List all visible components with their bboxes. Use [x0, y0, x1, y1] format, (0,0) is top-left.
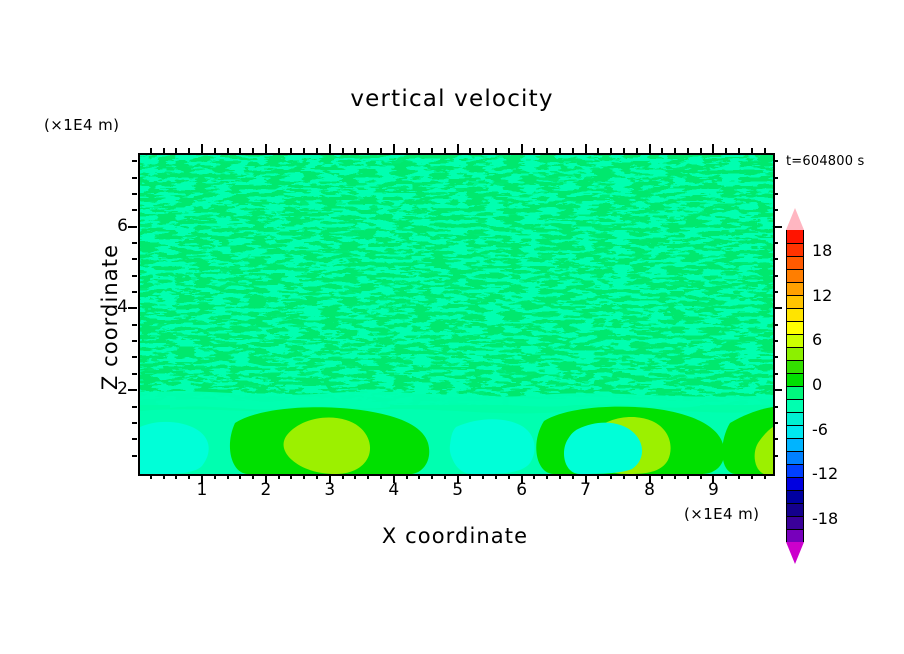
- y-tick-label: 6: [104, 216, 128, 236]
- x-major-tick-top: [265, 144, 267, 153]
- x-tick-label: 4: [379, 480, 409, 500]
- colorbar: [786, 230, 804, 542]
- y-minor-tick-right: [773, 275, 778, 277]
- x-major-tick-top: [393, 144, 395, 153]
- y-major-tick-right: [773, 226, 782, 228]
- x-minor-tick: [661, 474, 663, 479]
- y-minor-tick-right: [773, 177, 778, 179]
- y-minor-tick: [132, 258, 137, 260]
- x-minor-tick-top: [636, 148, 638, 153]
- figure-canvas: vertical velocity (×1E4 m) (×1E4 m) X co…: [0, 0, 904, 654]
- timestamp-annotation: t=604800 s: [786, 154, 865, 169]
- x-minor-tick: [482, 474, 484, 479]
- y-minor-tick-right: [773, 324, 778, 326]
- colorbar-band: [786, 321, 804, 334]
- colorbar-band: [786, 360, 804, 373]
- y-minor-tick: [132, 406, 137, 408]
- x-minor-tick-top: [227, 148, 229, 153]
- colorbar-band: [786, 490, 804, 503]
- x-tick-label: 6: [507, 480, 537, 500]
- x-minor-tick-top: [290, 148, 292, 153]
- y-minor-tick-right: [773, 193, 778, 195]
- x-tick-label: 1: [187, 480, 217, 500]
- y-minor-tick: [132, 373, 137, 375]
- colorbar-band: [786, 308, 804, 321]
- x-minor-tick: [674, 474, 676, 479]
- x-minor-tick-top: [572, 148, 574, 153]
- x-minor-tick: [342, 474, 344, 479]
- y-major-tick: [128, 307, 137, 309]
- x-major-tick-top: [585, 144, 587, 153]
- x-tick-label: 9: [698, 480, 728, 500]
- x-minor-tick: [418, 474, 420, 479]
- x-minor-tick-top: [252, 148, 254, 153]
- x-minor-tick: [406, 474, 408, 479]
- x-minor-tick-top: [406, 148, 408, 153]
- y-axis-units-label: (×1E4 m): [44, 116, 119, 134]
- y-minor-tick: [132, 324, 137, 326]
- colorbar-band: [786, 399, 804, 412]
- x-minor-tick-top: [661, 148, 663, 153]
- contour-field-svg: [140, 155, 773, 474]
- colorbar-band: [786, 477, 804, 490]
- y-minor-tick: [132, 242, 137, 244]
- x-minor-tick: [546, 474, 548, 479]
- x-minor-tick: [316, 474, 318, 479]
- x-minor-tick: [636, 474, 638, 479]
- colorbar-band: [786, 282, 804, 295]
- x-minor-tick-top: [597, 148, 599, 153]
- x-minor-tick-top: [367, 148, 369, 153]
- x-minor-tick-top: [354, 148, 356, 153]
- x-tick-label: 7: [571, 480, 601, 500]
- y-minor-tick: [132, 209, 137, 211]
- x-minor-tick: [367, 474, 369, 479]
- x-axis-title: X coordinate: [260, 524, 650, 548]
- x-minor-tick: [227, 474, 229, 479]
- x-minor-tick-top: [674, 148, 676, 153]
- x-minor-tick-top: [623, 148, 625, 153]
- y-minor-tick-right: [773, 340, 778, 342]
- x-minor-tick: [444, 474, 446, 479]
- x-minor-tick-top: [700, 148, 702, 153]
- x-minor-tick: [163, 474, 165, 479]
- x-minor-tick: [431, 474, 433, 479]
- x-minor-tick-top: [725, 148, 727, 153]
- colorbar-band: [786, 516, 804, 529]
- colorbar-band: [786, 243, 804, 256]
- y-minor-tick: [132, 356, 137, 358]
- x-minor-tick-top: [546, 148, 548, 153]
- colorbar-tick-label: -12: [812, 464, 838, 483]
- x-minor-tick: [239, 474, 241, 479]
- x-minor-tick: [278, 474, 280, 479]
- x-minor-tick: [751, 474, 753, 479]
- x-axis-units-label: (×1E4 m): [684, 505, 759, 523]
- x-minor-tick-top: [175, 148, 177, 153]
- colorbar-band: [786, 529, 804, 542]
- y-major-tick-right: [773, 389, 782, 391]
- colorbar-band: [786, 451, 804, 464]
- x-minor-tick-top: [418, 148, 420, 153]
- y-major-tick: [128, 226, 137, 228]
- x-minor-tick: [610, 474, 612, 479]
- contour-field: [140, 155, 773, 474]
- x-minor-tick-top: [751, 148, 753, 153]
- y-minor-tick: [132, 438, 137, 440]
- x-minor-tick-top: [764, 148, 766, 153]
- y-minor-tick-right: [773, 356, 778, 358]
- x-major-tick-top: [201, 144, 203, 153]
- x-minor-tick-top: [610, 148, 612, 153]
- y-minor-tick: [132, 160, 137, 162]
- x-minor-tick-top: [508, 148, 510, 153]
- x-minor-tick-top: [495, 148, 497, 153]
- colorbar-band: [786, 230, 804, 243]
- y-tick-label: 2: [104, 379, 128, 399]
- colorbar-tick-label: 0: [812, 375, 822, 394]
- colorbar-band: [786, 412, 804, 425]
- x-minor-tick-top: [444, 148, 446, 153]
- y-minor-tick-right: [773, 258, 778, 260]
- colorbar-tick-label: 6: [812, 330, 822, 349]
- x-minor-tick-top: [738, 148, 740, 153]
- plot-frame: [138, 153, 775, 476]
- x-tick-label: 5: [443, 480, 473, 500]
- x-minor-tick: [214, 474, 216, 479]
- x-tick-label: 2: [251, 480, 281, 500]
- y-minor-tick-right: [773, 422, 778, 424]
- x-minor-tick: [469, 474, 471, 479]
- x-minor-tick: [175, 474, 177, 479]
- colorbar-under-arrow: [786, 542, 804, 564]
- colorbar-band: [786, 386, 804, 399]
- y-minor-tick: [132, 275, 137, 277]
- y-minor-tick: [132, 193, 137, 195]
- colorbar-band: [786, 425, 804, 438]
- x-minor-tick-top: [150, 148, 152, 153]
- colorbar-band: [786, 256, 804, 269]
- x-major-tick-top: [521, 144, 523, 153]
- y-tick-label: 4: [104, 297, 128, 317]
- colorbar-band: [786, 295, 804, 308]
- x-minor-tick: [150, 474, 152, 479]
- x-minor-tick: [725, 474, 727, 479]
- y-minor-tick-right: [773, 373, 778, 375]
- x-minor-tick: [687, 474, 689, 479]
- x-minor-tick-top: [163, 148, 165, 153]
- colorbar-over-arrow: [786, 208, 804, 230]
- x-minor-tick: [252, 474, 254, 479]
- x-minor-tick-top: [469, 148, 471, 153]
- x-minor-tick: [764, 474, 766, 479]
- x-minor-tick: [533, 474, 535, 479]
- y-minor-tick: [132, 455, 137, 457]
- x-minor-tick-top: [380, 148, 382, 153]
- colorbar-tick-label: -6: [812, 420, 828, 439]
- colorbar-tick-label: -18: [812, 509, 838, 528]
- x-minor-tick: [290, 474, 292, 479]
- y-minor-tick: [132, 422, 137, 424]
- x-minor-tick: [508, 474, 510, 479]
- y-minor-tick: [132, 177, 137, 179]
- x-minor-tick: [700, 474, 702, 479]
- x-tick-label: 8: [635, 480, 665, 500]
- y-minor-tick-right: [773, 406, 778, 408]
- x-minor-tick: [572, 474, 574, 479]
- page-title: vertical velocity: [0, 86, 904, 112]
- x-minor-tick-top: [214, 148, 216, 153]
- x-major-tick-top: [457, 144, 459, 153]
- y-minor-tick: [132, 340, 137, 342]
- x-minor-tick-top: [687, 148, 689, 153]
- colorbar-band: [786, 503, 804, 516]
- x-minor-tick-top: [342, 148, 344, 153]
- colorbar-band: [786, 269, 804, 282]
- colorbar-band: [786, 438, 804, 451]
- colorbar-band: [786, 373, 804, 386]
- x-minor-tick-top: [239, 148, 241, 153]
- x-minor-tick-top: [431, 148, 433, 153]
- y-minor-tick-right: [773, 209, 778, 211]
- x-minor-tick: [188, 474, 190, 479]
- x-minor-tick: [597, 474, 599, 479]
- y-minor-tick: [132, 291, 137, 293]
- y-minor-tick-right: [773, 438, 778, 440]
- colorbar-tick-label: 18: [812, 241, 832, 260]
- x-minor-tick-top: [278, 148, 280, 153]
- x-major-tick-top: [649, 144, 651, 153]
- y-minor-tick-right: [773, 160, 778, 162]
- colorbar-band: [786, 347, 804, 360]
- colorbar-tick-label: 12: [812, 286, 832, 305]
- x-minor-tick-top: [482, 148, 484, 153]
- x-major-tick-top: [329, 144, 331, 153]
- x-major-tick-top: [712, 144, 714, 153]
- x-minor-tick: [495, 474, 497, 479]
- x-minor-tick: [354, 474, 356, 479]
- x-minor-tick: [380, 474, 382, 479]
- y-minor-tick-right: [773, 455, 778, 457]
- y-major-tick-right: [773, 307, 782, 309]
- x-minor-tick-top: [533, 148, 535, 153]
- x-minor-tick-top: [303, 148, 305, 153]
- colorbar-band: [786, 464, 804, 477]
- x-minor-tick: [559, 474, 561, 479]
- x-minor-tick: [303, 474, 305, 479]
- y-minor-tick-right: [773, 291, 778, 293]
- x-minor-tick-top: [316, 148, 318, 153]
- colorbar-band: [786, 334, 804, 347]
- x-minor-tick: [623, 474, 625, 479]
- x-minor-tick-top: [559, 148, 561, 153]
- x-minor-tick-top: [188, 148, 190, 153]
- y-minor-tick-right: [773, 242, 778, 244]
- x-tick-label: 3: [315, 480, 345, 500]
- y-major-tick: [128, 389, 137, 391]
- x-minor-tick: [738, 474, 740, 479]
